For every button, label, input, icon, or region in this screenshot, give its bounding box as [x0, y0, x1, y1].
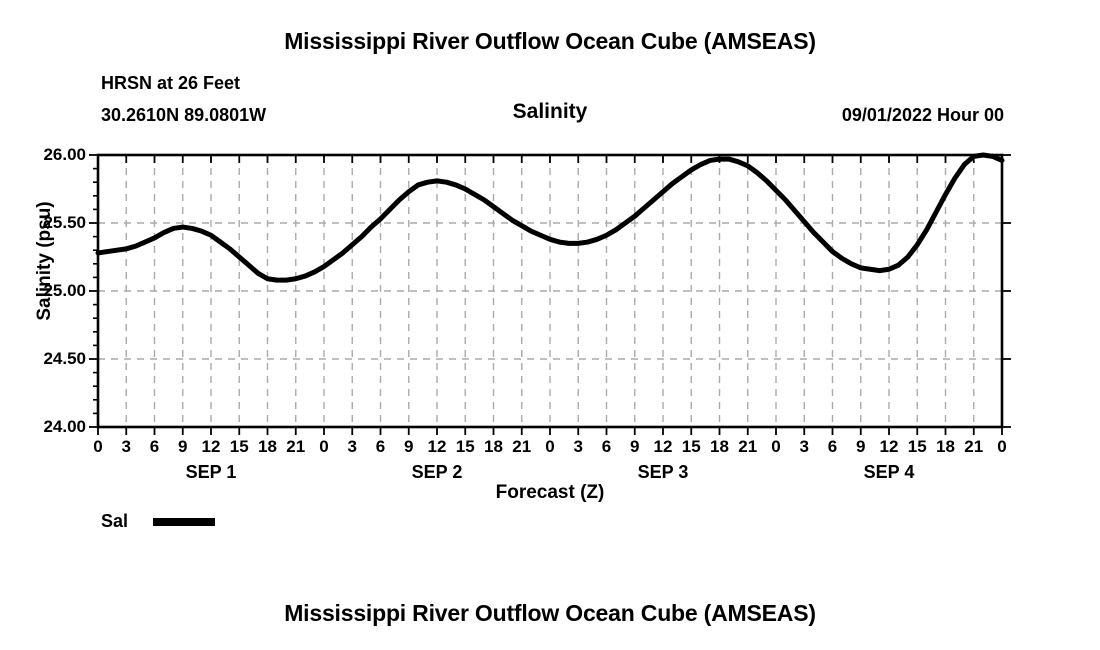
y-tick-label: 24.50 — [14, 349, 86, 369]
x-day-label: SEP 2 — [377, 462, 497, 483]
grid-lines — [98, 155, 1002, 427]
chart-page: Mississippi River Outflow Ocean Cube (AM… — [0, 0, 1100, 650]
chart-svg — [0, 0, 1100, 650]
legend-label-sal: Sal — [101, 511, 153, 532]
y-axis-title: Salinity (psu) — [34, 171, 56, 351]
chart-legend: Sal — [101, 511, 215, 532]
y-tick-label: 24.00 — [14, 417, 86, 437]
x-tick-label: 0 — [982, 437, 1022, 457]
x-day-label: SEP 1 — [151, 462, 271, 483]
legend-line-swatch — [153, 518, 215, 526]
x-day-label: SEP 3 — [603, 462, 723, 483]
plot-area: 24.0024.5025.0025.5026.00 03691215182103… — [0, 0, 1100, 650]
y-tick-label: 26.00 — [14, 145, 86, 165]
x-day-label: SEP 4 — [829, 462, 949, 483]
x-axis-title: Forecast (Z) — [0, 482, 1100, 504]
footer-title: Mississippi River Outflow Ocean Cube (AM… — [0, 600, 1100, 627]
